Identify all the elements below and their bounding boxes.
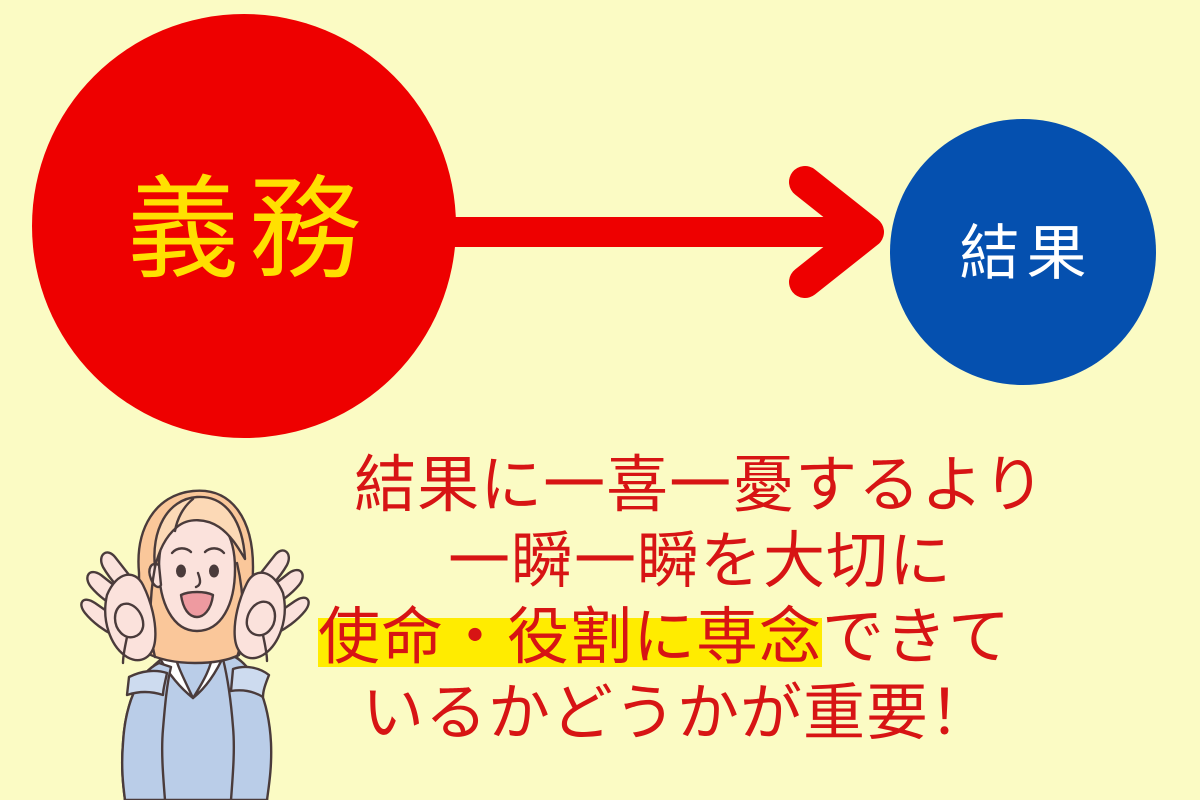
node-duty-label: 義務 [117, 174, 371, 286]
node-duty-circle: 義務 [32, 14, 456, 438]
node-result-circle: 結果 [890, 119, 1156, 385]
slide-canvas: 義務 結果 結果に一喜一憂するより 一瞬一瞬を大切に 使命・役割に専念できて い… [0, 0, 1200, 800]
message-line-3-tail: できて [822, 600, 1011, 673]
smiling-woman-ok-gesture-illustration [55, 455, 325, 800]
message-line-4: いるかどうかが重要！ [300, 675, 1100, 751]
message-line-1: 結果に一喜一憂するより [300, 447, 1100, 523]
message-line-2: 一瞬一瞬を大切に [300, 523, 1100, 599]
node-result-label: 結果 [953, 224, 1094, 284]
message-line-3: 使命・役割に専念できて [300, 599, 1100, 675]
message-block: 結果に一喜一憂するより 一瞬一瞬を大切に 使命・役割に専念できて いるかどうかが… [300, 447, 1100, 751]
message-highlighted-phrase: 使命・役割に専念 [318, 600, 822, 673]
right-arrow-icon [420, 160, 920, 320]
